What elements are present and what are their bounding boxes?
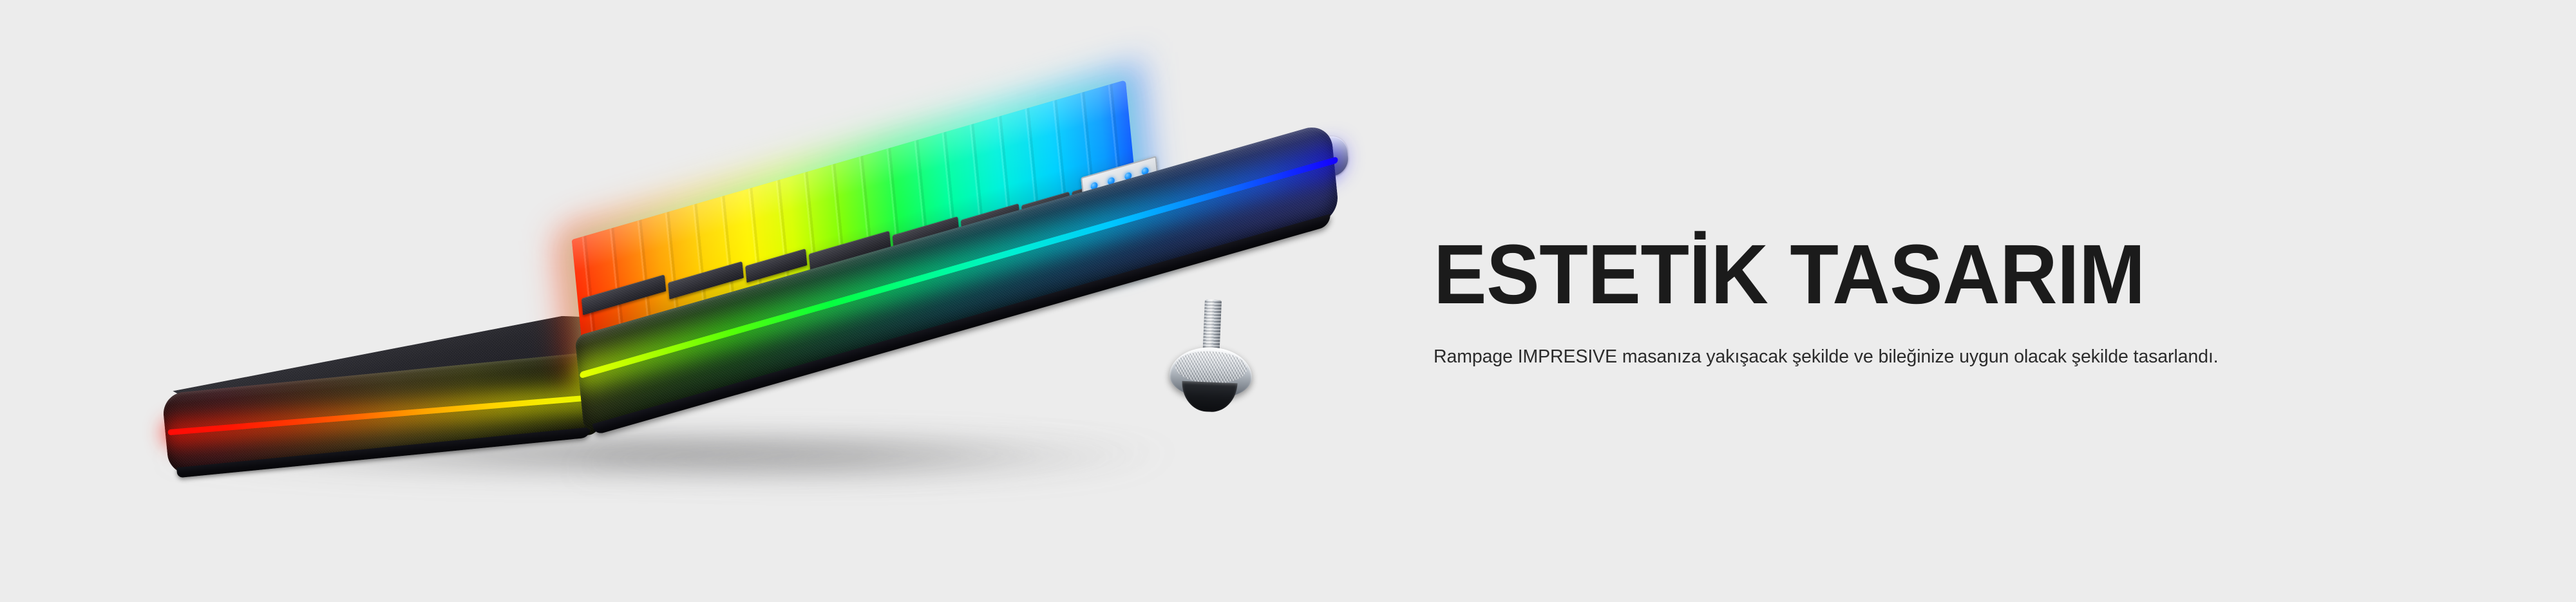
volume-knob — [1164, 298, 1265, 424]
product-image — [0, 0, 1417, 602]
keycap — [582, 274, 667, 315]
volume-knob-tip — [1181, 381, 1238, 413]
product-feature-banner: ESTETİK TASARIM Rampage IMPRESIVE masanı… — [0, 0, 2576, 602]
keyboard-module — [563, 137, 1367, 470]
page-title: ESTETİK TASARIM — [1434, 232, 2334, 316]
page-subtitle: Rampage IMPRESIVE masanıza yakışacak şek… — [1434, 344, 2387, 369]
volume-knob-stem — [1202, 299, 1221, 354]
marketing-copy: ESTETİK TASARIM Rampage IMPRESIVE masanı… — [1434, 232, 2387, 369]
